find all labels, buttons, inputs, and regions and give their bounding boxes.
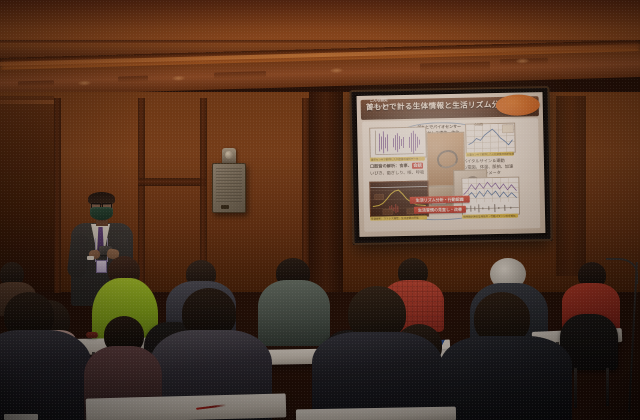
foreground-table [296,407,456,420]
ceiling-vent [420,61,490,72]
presenter-name-badge [96,260,107,273]
seminar-room-photo: 首もとで計る生体情報と生活リズム分析 こんな研究 をしています 首もとでバイオセ… [0,0,640,420]
chart-oral-sound-waveform [369,127,427,159]
wall-speaker [212,163,246,213]
door-rail [0,100,56,104]
wall-pillar [556,96,586,276]
handout-paper [4,414,38,420]
hrv-chart-svg [466,124,515,153]
caption-gridb-text: 長時間計測の生体信号・行動パターンの可視化 [463,213,515,218]
ceiling-vent [118,76,148,83]
banner-habit-improvement: 生活習慣の見直し・改善 [414,206,466,214]
caption-bar-dark: 咳音解析：ストレス推定、生活習慣の評価 [370,216,427,221]
caption-bar-gridb: 長時間計測の生体信号・行動パターンの可視化 [462,214,518,219]
shoulders [0,330,92,420]
hrv-legend: 心拍数 [474,121,483,127]
ceiling-downlight [330,68,343,73]
chair-leg [574,368,577,408]
caption-bar-waveform: 音声センサで取得した口腔音の波形データ [370,157,425,162]
slide-callout-line2: をしています [357,104,401,110]
ceiling-downlight [172,76,185,81]
caption-dark-text: 咳音解析：ストレス推定、生活習慣の評価 [371,215,419,220]
ceiling-vent [214,71,266,79]
slide-body: 首もとでバイオセンサー ワイヤレス通信一体化 [362,118,540,232]
chart-heart-rate-variability [465,123,516,154]
left-label-line2: いびき、歯ぎしり、咳、呼吸 [370,170,426,177]
caption-waveform-text: 音声センサで取得した口腔音の波形データ [371,156,419,161]
waveform-svg [370,128,426,158]
left-label-line1: 口腔音の解析：食事、会話 [370,163,426,170]
caption-grid-text: 心電センサで取得した心拍変動の解析結果 [467,151,515,156]
banner-lifestyle-rhythm: 生活リズム分析・行動認識 [410,196,470,204]
screen-surface: 首もとで計る生体情報と生活リズム分析 こんな研究 をしています 首もとでバイオセ… [357,92,546,237]
projection-screen: 首もとで計る生体情報と生活リズム分析 こんな研究 をしています 首もとでバイオセ… [349,86,552,245]
speaker-grille [216,168,242,203]
ceiling-vent [18,80,54,87]
shoulders [440,336,572,420]
presenter-shirt-cuff [87,256,94,260]
wall-panel-seam [54,98,61,293]
caption-bar-grid: 心電センサで取得した心拍変動の解析結果 [466,152,514,157]
ceiling-downlight [78,80,91,85]
speaker-badge [221,205,229,209]
chair-leg [606,368,609,406]
left-label-text1: 口腔音の解析：食事、 [370,163,412,169]
shoulders [258,280,330,346]
presentation-slide: 首もとで計る生体情報と生活リズム分析 こんな研究 をしています 首もとでバイオセ… [357,92,546,237]
foreground-table [86,393,287,420]
chart-long-term-vital-trend [461,177,520,216]
wall-pillar [309,92,343,292]
trend-chart-svg [462,178,519,215]
left-label-highlight: 会話 [412,163,424,169]
cup [86,332,98,338]
wall-panel-seam [138,178,206,186]
face-mask-icon [90,207,113,220]
